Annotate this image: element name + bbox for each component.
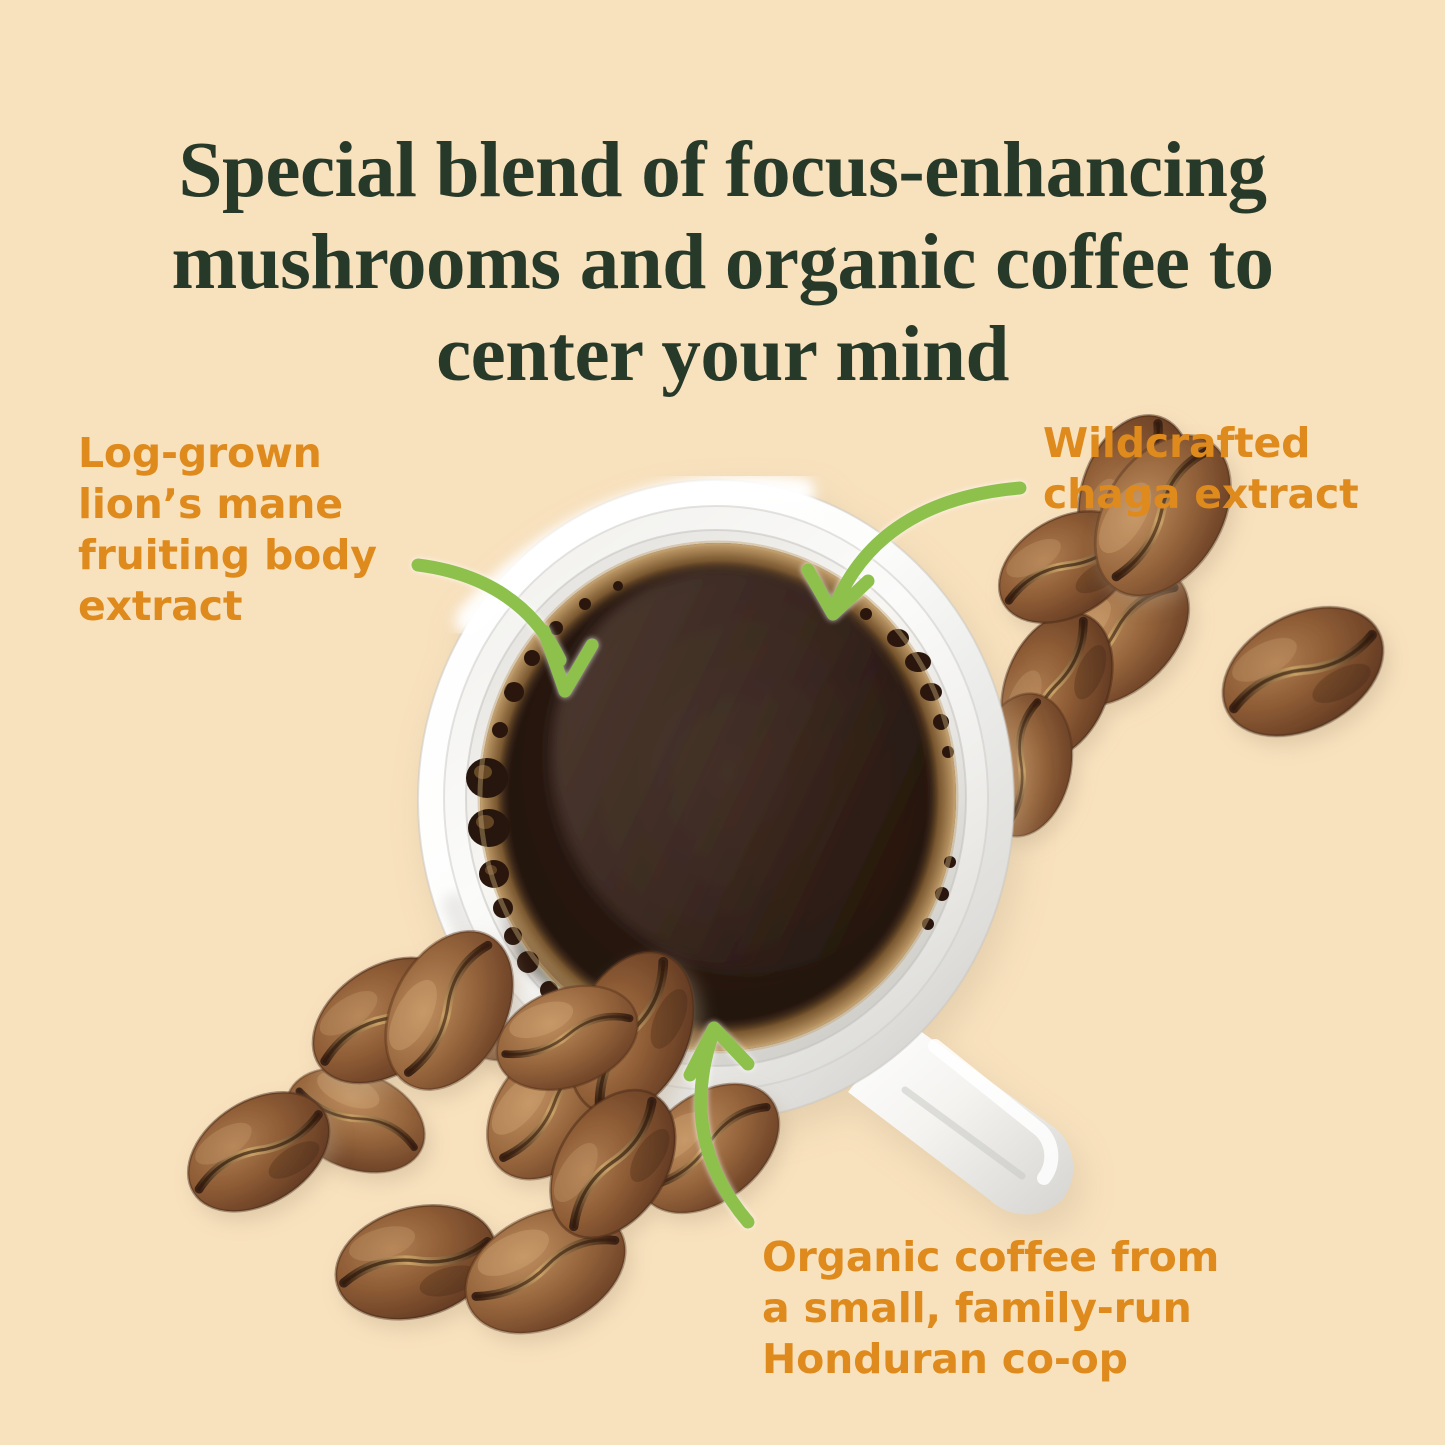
callout-honduran-line-2: a small, family-run <box>762 1283 1219 1334</box>
headline-line-2: mushrooms and organic coffee to <box>0 217 1445 309</box>
callout-lions-mane-line-2: lion’s mane <box>78 479 377 530</box>
callout-chaga-line-1: Wildcrafted <box>1043 418 1359 469</box>
callout-chaga-line-2: chaga extract <box>1043 469 1359 520</box>
callout-chaga: Wildcrafted chaga extract <box>1043 418 1359 520</box>
callout-honduran-line-1: Organic coffee from <box>762 1232 1219 1283</box>
callout-honduran: Organic coffee from a small, family-run … <box>762 1232 1219 1385</box>
callout-lions-mane-line-1: Log-grown <box>78 428 377 479</box>
callout-lions-mane-line-4: extract <box>78 581 377 632</box>
headline-line-3: center your mind <box>0 309 1445 401</box>
page-title: Special blend of focus-enhancing mushroo… <box>0 125 1445 401</box>
callout-lions-mane-line-3: fruiting body <box>78 530 377 581</box>
callout-honduran-line-3: Honduran co-op <box>762 1334 1219 1385</box>
callout-lions-mane: Log-grown lion’s mane fruiting body extr… <box>78 428 377 632</box>
product-infographic: Special blend of focus-enhancing mushroo… <box>0 0 1445 1445</box>
headline-line-1: Special blend of focus-enhancing <box>0 125 1445 217</box>
